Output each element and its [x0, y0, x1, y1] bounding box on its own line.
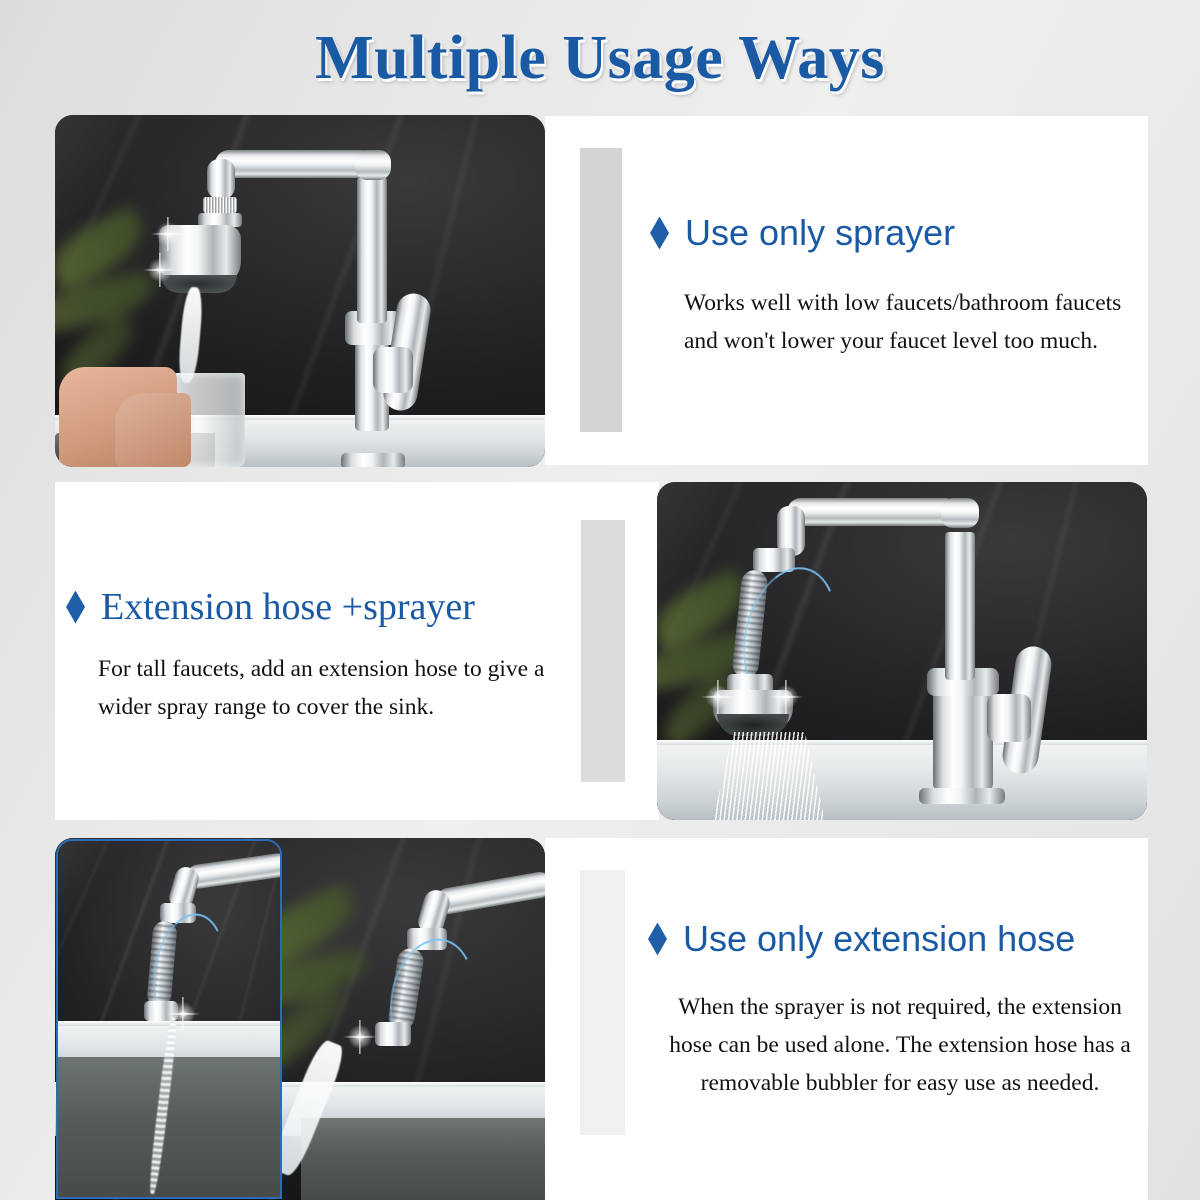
- section-2-heading-text: Extension hose +sprayer: [101, 585, 475, 629]
- section-1-heading: Use only sprayer: [650, 212, 955, 254]
- section-3-heading: Use only extension hose: [648, 918, 1075, 960]
- page-title: Multiple Usage Ways: [315, 23, 885, 94]
- section-3-divider-bar: [580, 870, 625, 1135]
- section-2-photo: [657, 482, 1147, 820]
- handle-hub: [373, 347, 413, 393]
- section-3-inset-panel: [56, 839, 282, 1199]
- section-3-body-text: When the sprayer is not required, the ex…: [668, 988, 1132, 1102]
- diamond-bullet-icon: [66, 591, 85, 624]
- diamond-bullet-icon: [648, 923, 667, 956]
- faucet-base-plate: [341, 453, 405, 467]
- section-1-photo: [55, 115, 545, 467]
- hand-fingers: [115, 393, 191, 467]
- section-2-body-text: For tall faucets, add an extension hose …: [98, 650, 568, 726]
- section-3-photo: [55, 838, 545, 1200]
- spout-top-arm: [215, 150, 375, 178]
- section-1-heading-text: Use only sprayer: [685, 212, 955, 254]
- diamond-bullet-icon: [650, 217, 669, 250]
- spout-right-elbow: [941, 498, 979, 528]
- spout-riser: [357, 177, 387, 323]
- spout-right-elbow: [355, 150, 391, 180]
- section-1-body-text: Works well with low faucets/bathroom fau…: [684, 284, 1142, 360]
- section-3-heading-text: Use only extension hose: [683, 918, 1075, 960]
- section-1-divider-bar: [580, 148, 622, 432]
- sink-basin: [301, 1118, 545, 1200]
- section-2-heading: Extension hose +sprayer: [66, 585, 475, 629]
- spout-riser: [945, 532, 975, 680]
- handle-hub: [987, 694, 1031, 742]
- hose-end-nut: [375, 1022, 411, 1046]
- section-2-divider-bar: [581, 520, 625, 782]
- spout-top-arm: [787, 498, 959, 526]
- faucet-base-plate: [919, 788, 1005, 804]
- page-title-container: Multiple Usage Ways: [0, 22, 1200, 94]
- knurled-collar: [203, 197, 237, 213]
- spout-left-elbow: [207, 159, 235, 199]
